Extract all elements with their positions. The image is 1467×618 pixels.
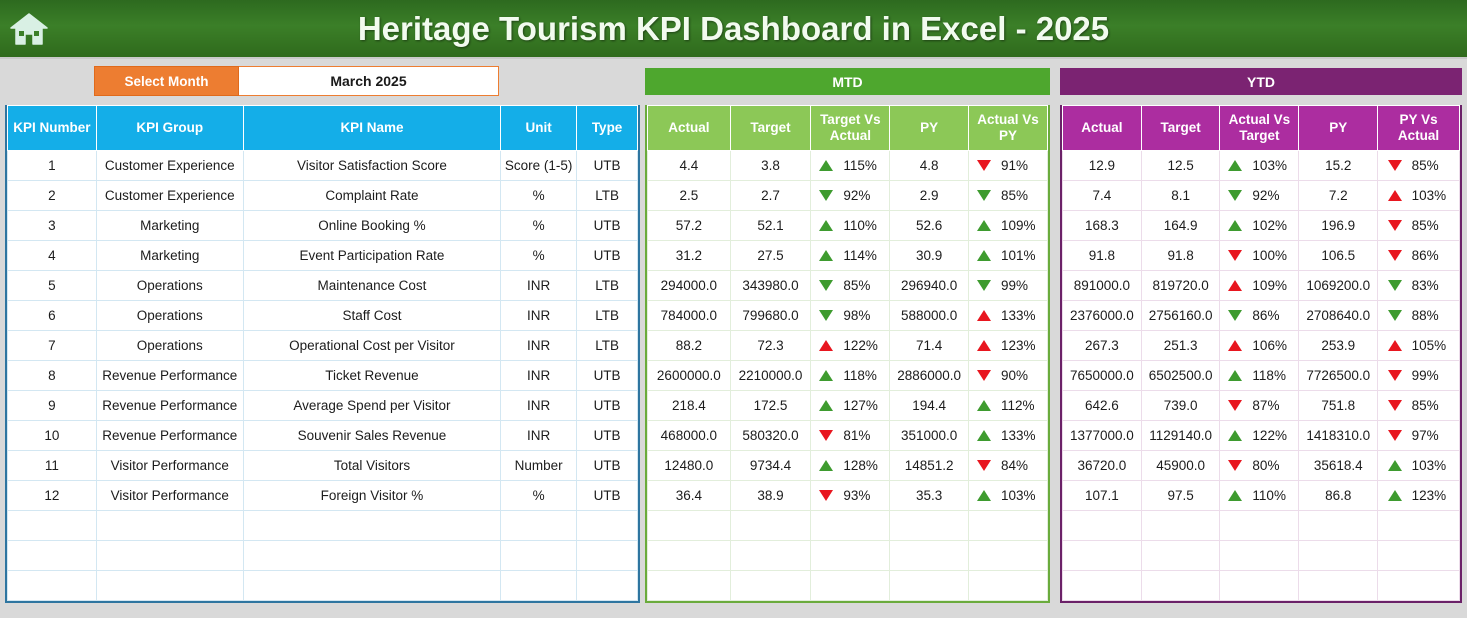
triangle-up-icon [977, 430, 991, 441]
dashboard-root: Heritage Tourism KPI Dashboard in Excel … [0, 0, 1467, 618]
ytd-actual-vs-target-value: 122% [1252, 428, 1290, 443]
mtd-actual-vs-py: 90% [969, 361, 1048, 391]
triangle-down-icon [819, 490, 833, 501]
ytd-py: 15.2 [1299, 151, 1378, 181]
kpi-type: LTB [577, 181, 638, 211]
table-row[interactable]: 1377000.01129140.0122%1418310.097% [1063, 421, 1460, 451]
mtd-py: 52.6 [890, 211, 969, 241]
triangle-down-icon [1228, 310, 1242, 321]
triangle-up-icon [1228, 490, 1242, 501]
ytd-actual-vs-target-value: 92% [1252, 188, 1290, 203]
kpi-type: UTB [577, 421, 638, 451]
empty-cell [1378, 511, 1460, 541]
table-row[interactable]: 7.48.192%7.2103% [1063, 181, 1460, 211]
ytd-col-header[interactable]: PY [1299, 106, 1378, 151]
kpi-info-grid: KPI NumberKPI GroupKPI NameUnitType 1Cus… [7, 105, 638, 601]
mtd-py: 4.8 [890, 151, 969, 181]
kpi-name: Ticket Revenue [243, 361, 500, 391]
select-month-label: Select Month [94, 66, 239, 96]
mtd-actual-vs-py-value: 123% [1001, 338, 1039, 353]
mtd-target-vs-actual: 128% [811, 451, 890, 481]
kpi-info-col-header[interactable]: Unit [501, 106, 577, 151]
ytd-target: 819720.0 [1141, 271, 1220, 301]
kpi-type: UTB [577, 481, 638, 511]
triangle-up-icon [1228, 430, 1242, 441]
triangle-up-icon [977, 340, 991, 351]
ytd-py: 86.8 [1299, 481, 1378, 511]
triangle-up-icon [819, 160, 833, 171]
kpi-info-empty-row [8, 571, 638, 601]
mtd-actual-vs-py: 133% [969, 421, 1048, 451]
kpi-name: Maintenance Cost [243, 271, 500, 301]
triangle-down-icon [977, 160, 991, 171]
mtd-target: 9734.4 [730, 451, 811, 481]
mtd-actual: 2.5 [648, 181, 731, 211]
table-row[interactable]: 294000.0343980.085%296940.099% [648, 271, 1048, 301]
kpi-name: Souvenir Sales Revenue [243, 421, 500, 451]
ytd-py-vs-actual: 105% [1378, 331, 1460, 361]
ytd-actual-vs-target: 102% [1220, 211, 1299, 241]
kpi-group: Revenue Performance [96, 421, 243, 451]
mtd-actual-vs-py: 101% [969, 241, 1048, 271]
page-title: Heritage Tourism KPI Dashboard in Excel … [58, 10, 1467, 48]
triangle-down-icon [977, 190, 991, 201]
mtd-target-vs-actual: 81% [811, 421, 890, 451]
mtd-empty-row [648, 571, 1048, 601]
mtd-target-vs-actual-value: 93% [843, 488, 881, 503]
mtd-py: 71.4 [890, 331, 969, 361]
ytd-grid: ActualTargetActual Vs TargetPYPY Vs Actu… [1062, 105, 1460, 601]
empty-cell [1378, 541, 1460, 571]
kpi-info-col-header[interactable]: KPI Number [8, 106, 97, 151]
ytd-actual: 267.3 [1063, 331, 1142, 361]
empty-cell [1063, 571, 1142, 601]
table-row[interactable]: 2600000.02210000.0118%2886000.090% [648, 361, 1048, 391]
kpi-type: LTB [577, 271, 638, 301]
empty-cell [577, 541, 638, 571]
kpi-name: Total Visitors [243, 451, 500, 481]
empty-cell [8, 571, 97, 601]
kpi-unit: INR [501, 361, 577, 391]
ytd-actual-vs-target: 118% [1220, 361, 1299, 391]
kpi-unit: % [501, 481, 577, 511]
mtd-actual-vs-py-value: 91% [1001, 158, 1039, 173]
triangle-up-icon [1228, 370, 1242, 381]
empty-cell [501, 541, 577, 571]
mtd-target: 52.1 [730, 211, 811, 241]
mtd-col-header[interactable]: Actual [648, 106, 731, 151]
mtd-actual-vs-py-value: 85% [1001, 188, 1039, 203]
triangle-up-icon [1388, 490, 1402, 501]
ytd-py-vs-actual: 88% [1378, 301, 1460, 331]
ytd-actual: 891000.0 [1063, 271, 1142, 301]
kpi-group: Operations [96, 271, 243, 301]
table-row[interactable]: 5OperationsMaintenance CostINRLTB [8, 271, 638, 301]
empty-cell [96, 541, 243, 571]
kpi-number: 4 [8, 241, 97, 271]
kpi-group: Customer Experience [96, 151, 243, 181]
empty-cell [811, 541, 890, 571]
mtd-target-vs-actual: 127% [811, 391, 890, 421]
empty-cell [1063, 541, 1142, 571]
mtd-actual-vs-py: 91% [969, 151, 1048, 181]
kpi-type: UTB [577, 211, 638, 241]
mtd-target-vs-actual-value: 98% [843, 308, 881, 323]
ytd-py: 751.8 [1299, 391, 1378, 421]
mtd-actual-vs-py: 133% [969, 301, 1048, 331]
kpi-type: UTB [577, 241, 638, 271]
triangle-down-icon [1228, 400, 1242, 411]
mtd-actual-vs-py-value: 90% [1001, 368, 1039, 383]
kpi-name: Visitor Satisfaction Score [243, 151, 500, 181]
mtd-py: 14851.2 [890, 451, 969, 481]
table-row[interactable]: 468000.0580320.081%351000.0133% [648, 421, 1048, 451]
ytd-actual: 168.3 [1063, 211, 1142, 241]
ytd-col-header[interactable]: Target [1141, 106, 1220, 151]
ytd-actual-vs-target: 110% [1220, 481, 1299, 511]
ytd-py-vs-actual: 103% [1378, 451, 1460, 481]
mtd-actual-vs-py: 85% [969, 181, 1048, 211]
triangle-down-icon [1388, 370, 1402, 381]
mtd-target-vs-actual-value: 110% [843, 218, 881, 233]
triangle-up-icon [977, 310, 991, 321]
kpi-number: 8 [8, 361, 97, 391]
ytd-py-vs-actual-value: 85% [1412, 158, 1450, 173]
triangle-down-icon [1388, 400, 1402, 411]
mtd-actual-vs-py-value: 101% [1001, 248, 1039, 263]
empty-cell [8, 511, 97, 541]
table-row[interactable]: 3MarketingOnline Booking %%UTB [8, 211, 638, 241]
mtd-banner: MTD [645, 68, 1050, 95]
mtd-col-header[interactable]: Target Vs Actual [811, 106, 890, 151]
table-row[interactable]: 267.3251.3106%253.9105% [1063, 331, 1460, 361]
empty-cell [243, 511, 500, 541]
table-row[interactable]: 9Revenue PerformanceAverage Spend per Vi… [8, 391, 638, 421]
mtd-target: 2210000.0 [730, 361, 811, 391]
mtd-actual-vs-py-value: 109% [1001, 218, 1039, 233]
ytd-target: 2756160.0 [1141, 301, 1220, 331]
ytd-actual-vs-target-value: 86% [1252, 308, 1290, 323]
kpi-name: Staff Cost [243, 301, 500, 331]
table-row[interactable]: 12480.09734.4128%14851.284% [648, 451, 1048, 481]
table-row[interactable]: 2.52.792%2.985% [648, 181, 1048, 211]
mtd-target-vs-actual: 122% [811, 331, 890, 361]
kpi-type: LTB [577, 301, 638, 331]
table-row[interactable]: 7OperationsOperational Cost per VisitorI… [8, 331, 638, 361]
triangle-up-icon [819, 400, 833, 411]
mtd-actual-vs-py-value: 133% [1001, 308, 1039, 323]
table-row[interactable]: 31.227.5114%30.9101% [648, 241, 1048, 271]
mtd-target-vs-actual: 93% [811, 481, 890, 511]
mtd-actual-vs-py: 84% [969, 451, 1048, 481]
empty-cell [730, 571, 811, 601]
mtd-actual: 218.4 [648, 391, 731, 421]
ytd-empty-row [1063, 541, 1460, 571]
empty-cell [243, 541, 500, 571]
table-row[interactable]: 1Customer ExperienceVisitor Satisfaction… [8, 151, 638, 181]
kpi-unit: INR [501, 421, 577, 451]
ytd-py: 7.2 [1299, 181, 1378, 211]
empty-cell [1141, 571, 1220, 601]
mtd-target: 3.8 [730, 151, 811, 181]
kpi-unit: Number [501, 451, 577, 481]
table-row[interactable]: 11Visitor PerformanceTotal VisitorsNumbe… [8, 451, 638, 481]
mtd-target: 799680.0 [730, 301, 811, 331]
kpi-group: Marketing [96, 241, 243, 271]
triangle-up-icon [977, 400, 991, 411]
ytd-actual-vs-target-value: 109% [1252, 278, 1290, 293]
mtd-col-header[interactable]: Actual Vs PY [969, 106, 1048, 151]
mtd-target-vs-actual-value: 92% [843, 188, 881, 203]
mtd-actual: 2600000.0 [648, 361, 731, 391]
triangle-down-icon [1388, 280, 1402, 291]
mtd-target: 2.7 [730, 181, 811, 211]
kpi-number: 11 [8, 451, 97, 481]
triangle-up-icon [1388, 460, 1402, 471]
kpi-group: Revenue Performance [96, 361, 243, 391]
ytd-actual: 642.6 [1063, 391, 1142, 421]
ytd-py-vs-actual-value: 103% [1412, 458, 1450, 473]
ytd-actual: 12.9 [1063, 151, 1142, 181]
mtd-target-vs-actual: 115% [811, 151, 890, 181]
kpi-info-empty-row [8, 511, 638, 541]
empty-cell [648, 511, 731, 541]
empty-cell [811, 571, 890, 601]
ytd-actual: 7650000.0 [1063, 361, 1142, 391]
empty-cell [501, 571, 577, 601]
ytd-py: 35618.4 [1299, 451, 1378, 481]
mtd-actual-vs-py: 123% [969, 331, 1048, 361]
empty-cell [811, 511, 890, 541]
ytd-actual-vs-target-value: 106% [1252, 338, 1290, 353]
ytd-col-header[interactable]: Actual Vs Target [1220, 106, 1299, 151]
ytd-actual-vs-target: 103% [1220, 151, 1299, 181]
empty-cell [648, 541, 731, 571]
empty-cell [96, 571, 243, 601]
triangle-down-icon [1388, 220, 1402, 231]
empty-cell [1299, 541, 1378, 571]
ytd-empty-row [1063, 571, 1460, 601]
ytd-col-header[interactable]: PY Vs Actual [1378, 106, 1460, 151]
mtd-empty-row [648, 541, 1048, 571]
ytd-target: 164.9 [1141, 211, 1220, 241]
table-row[interactable]: 6OperationsStaff CostINRLTB [8, 301, 638, 331]
triangle-down-icon [1388, 250, 1402, 261]
ytd-actual-vs-target-value: 80% [1252, 458, 1290, 473]
mtd-target-vs-actual-value: 115% [843, 158, 881, 173]
table-row[interactable]: 168.3164.9102%196.985% [1063, 211, 1460, 241]
ytd-actual-vs-target: 80% [1220, 451, 1299, 481]
ytd-actual: 91.8 [1063, 241, 1142, 271]
table-row[interactable]: 12Visitor PerformanceForeign Visitor %%U… [8, 481, 638, 511]
empty-cell [890, 541, 969, 571]
ytd-actual-vs-target-value: 110% [1252, 488, 1290, 503]
mtd-py: 35.3 [890, 481, 969, 511]
month-selector[interactable]: Select Month March 2025 [94, 66, 499, 96]
home-icon[interactable] [0, 0, 58, 58]
mtd-actual: 294000.0 [648, 271, 731, 301]
table-row[interactable]: 784000.0799680.098%588000.0133% [648, 301, 1048, 331]
mtd-col-header[interactable]: Target [730, 106, 811, 151]
table-row[interactable]: 107.197.5110%86.8123% [1063, 481, 1460, 511]
table-row[interactable]: 891000.0819720.0109%1069200.083% [1063, 271, 1460, 301]
kpi-number: 7 [8, 331, 97, 361]
ytd-actual-vs-target: 122% [1220, 421, 1299, 451]
triangle-up-icon [1228, 340, 1242, 351]
kpi-info-col-header[interactable]: Type [577, 106, 638, 151]
kpi-unit: Score (1-5) [501, 151, 577, 181]
table-row[interactable]: 36720.045900.080%35618.4103% [1063, 451, 1460, 481]
empty-cell [1220, 571, 1299, 601]
kpi-unit: INR [501, 301, 577, 331]
table-row[interactable]: 12.912.5103%15.285% [1063, 151, 1460, 181]
mtd-py: 2886000.0 [890, 361, 969, 391]
mtd-py: 30.9 [890, 241, 969, 271]
mtd-target: 580320.0 [730, 421, 811, 451]
ytd-target: 251.3 [1141, 331, 1220, 361]
table-row[interactable]: 91.891.8100%106.586% [1063, 241, 1460, 271]
ytd-actual-vs-target-value: 102% [1252, 218, 1290, 233]
table-row[interactable]: 4MarketingEvent Participation Rate%UTB [8, 241, 638, 271]
empty-cell [1141, 541, 1220, 571]
mtd-actual-vs-py-value: 84% [1001, 458, 1039, 473]
triangle-up-icon [977, 490, 991, 501]
table-row[interactable]: 88.272.3122%71.4123% [648, 331, 1048, 361]
ytd-actual: 1377000.0 [1063, 421, 1142, 451]
mtd-table: ActualTargetTarget Vs ActualPYActual Vs … [645, 105, 1050, 603]
ytd-py-vs-actual-value: 123% [1412, 488, 1450, 503]
kpi-info-col-header[interactable]: KPI Name [243, 106, 500, 151]
ytd-py-vs-actual-value: 103% [1412, 188, 1450, 203]
mtd-target-vs-actual: 98% [811, 301, 890, 331]
ytd-actual-vs-target-value: 118% [1252, 368, 1290, 383]
empty-cell [648, 571, 731, 601]
ytd-py-vs-actual: 123% [1378, 481, 1460, 511]
table-row[interactable]: 57.252.1110%52.6109% [648, 211, 1048, 241]
triangle-up-icon [1388, 190, 1402, 201]
empty-cell [1378, 571, 1460, 601]
ytd-py-vs-actual-value: 97% [1412, 428, 1450, 443]
kpi-info-col-header[interactable]: KPI Group [96, 106, 243, 151]
mtd-actual-vs-py-value: 133% [1001, 428, 1039, 443]
mtd-actual-vs-py-value: 103% [1001, 488, 1039, 503]
ytd-actual: 2376000.0 [1063, 301, 1142, 331]
table-row[interactable]: 7650000.06502500.0118%7726500.099% [1063, 361, 1460, 391]
ytd-target: 8.1 [1141, 181, 1220, 211]
table-row[interactable]: 642.6739.087%751.885% [1063, 391, 1460, 421]
kpi-type: UTB [577, 451, 638, 481]
kpi-name: Online Booking % [243, 211, 500, 241]
ytd-actual-vs-target-value: 103% [1252, 158, 1290, 173]
mtd-actual: 88.2 [648, 331, 731, 361]
ytd-py: 253.9 [1299, 331, 1378, 361]
kpi-name: Average Spend per Visitor [243, 391, 500, 421]
empty-cell [730, 511, 811, 541]
ytd-py: 7726500.0 [1299, 361, 1378, 391]
triangle-down-icon [1388, 430, 1402, 441]
triangle-down-icon [977, 280, 991, 291]
table-row[interactable]: 218.4172.5127%194.4112% [648, 391, 1048, 421]
ytd-target: 97.5 [1141, 481, 1220, 511]
empty-cell [730, 541, 811, 571]
empty-cell [577, 571, 638, 601]
mtd-target-vs-actual: 110% [811, 211, 890, 241]
kpi-type: UTB [577, 361, 638, 391]
ytd-py-vs-actual-value: 83% [1412, 278, 1450, 293]
ytd-py-vs-actual-value: 85% [1412, 398, 1450, 413]
empty-cell [1220, 511, 1299, 541]
kpi-number: 10 [8, 421, 97, 451]
kpi-info-table: KPI NumberKPI GroupKPI NameUnitType 1Cus… [5, 105, 640, 603]
empty-cell [243, 571, 500, 601]
ytd-py: 106.5 [1299, 241, 1378, 271]
triangle-down-icon [1228, 190, 1242, 201]
ytd-col-header[interactable]: Actual [1063, 106, 1142, 151]
mtd-py: 2.9 [890, 181, 969, 211]
empty-cell [96, 511, 243, 541]
kpi-unit: % [501, 181, 577, 211]
mtd-grid: ActualTargetTarget Vs ActualPYActual Vs … [647, 105, 1048, 601]
mtd-actual-vs-py: 109% [969, 211, 1048, 241]
triangle-up-icon [1388, 340, 1402, 351]
mtd-col-header[interactable]: PY [890, 106, 969, 151]
dashboard-titlebar: Heritage Tourism KPI Dashboard in Excel … [0, 0, 1467, 59]
empty-cell [501, 511, 577, 541]
kpi-number: 5 [8, 271, 97, 301]
table-row[interactable]: 36.438.993%35.3103% [648, 481, 1048, 511]
ytd-actual-vs-target: 106% [1220, 331, 1299, 361]
table-header-row: ActualTargetActual Vs TargetPYPY Vs Actu… [1063, 106, 1460, 151]
ytd-actual: 107.1 [1063, 481, 1142, 511]
ytd-actual: 7.4 [1063, 181, 1142, 211]
kpi-type: LTB [577, 331, 638, 361]
table-row[interactable]: 4.43.8115%4.891% [648, 151, 1048, 181]
mtd-actual: 36.4 [648, 481, 731, 511]
table-row[interactable]: 2Customer ExperienceComplaint Rate%LTB [8, 181, 638, 211]
table-row[interactable]: 8Revenue PerformanceTicket RevenueINRUTB [8, 361, 638, 391]
ytd-banner: YTD [1060, 68, 1462, 95]
ytd-py-vs-actual: 85% [1378, 211, 1460, 241]
empty-cell [969, 511, 1048, 541]
select-month-value[interactable]: March 2025 [239, 66, 499, 96]
table-header-row: KPI NumberKPI GroupKPI NameUnitType [8, 106, 638, 151]
ytd-py: 196.9 [1299, 211, 1378, 241]
triangle-down-icon [977, 370, 991, 381]
ytd-actual-vs-target-value: 100% [1252, 248, 1290, 263]
kpi-group: Marketing [96, 211, 243, 241]
ytd-empty-row [1063, 511, 1460, 541]
ytd-py-vs-actual-value: 105% [1412, 338, 1450, 353]
mtd-target: 343980.0 [730, 271, 811, 301]
ytd-py-vs-actual-value: 85% [1412, 218, 1450, 233]
ytd-target: 12.5 [1141, 151, 1220, 181]
empty-cell [8, 541, 97, 571]
ytd-py-vs-actual-value: 86% [1412, 248, 1450, 263]
mtd-target: 172.5 [730, 391, 811, 421]
kpi-number: 6 [8, 301, 97, 331]
triangle-down-icon [819, 310, 833, 321]
table-row[interactable]: 10Revenue PerformanceSouvenir Sales Reve… [8, 421, 638, 451]
ytd-py: 1069200.0 [1299, 271, 1378, 301]
kpi-group: Revenue Performance [96, 391, 243, 421]
empty-cell [1299, 571, 1378, 601]
mtd-actual-vs-py-value: 112% [1001, 398, 1039, 413]
ytd-actual-vs-target: 86% [1220, 301, 1299, 331]
mtd-actual-vs-py: 103% [969, 481, 1048, 511]
ytd-target: 45900.0 [1141, 451, 1220, 481]
table-row[interactable]: 2376000.02756160.086%2708640.088% [1063, 301, 1460, 331]
triangle-up-icon [1228, 280, 1242, 291]
